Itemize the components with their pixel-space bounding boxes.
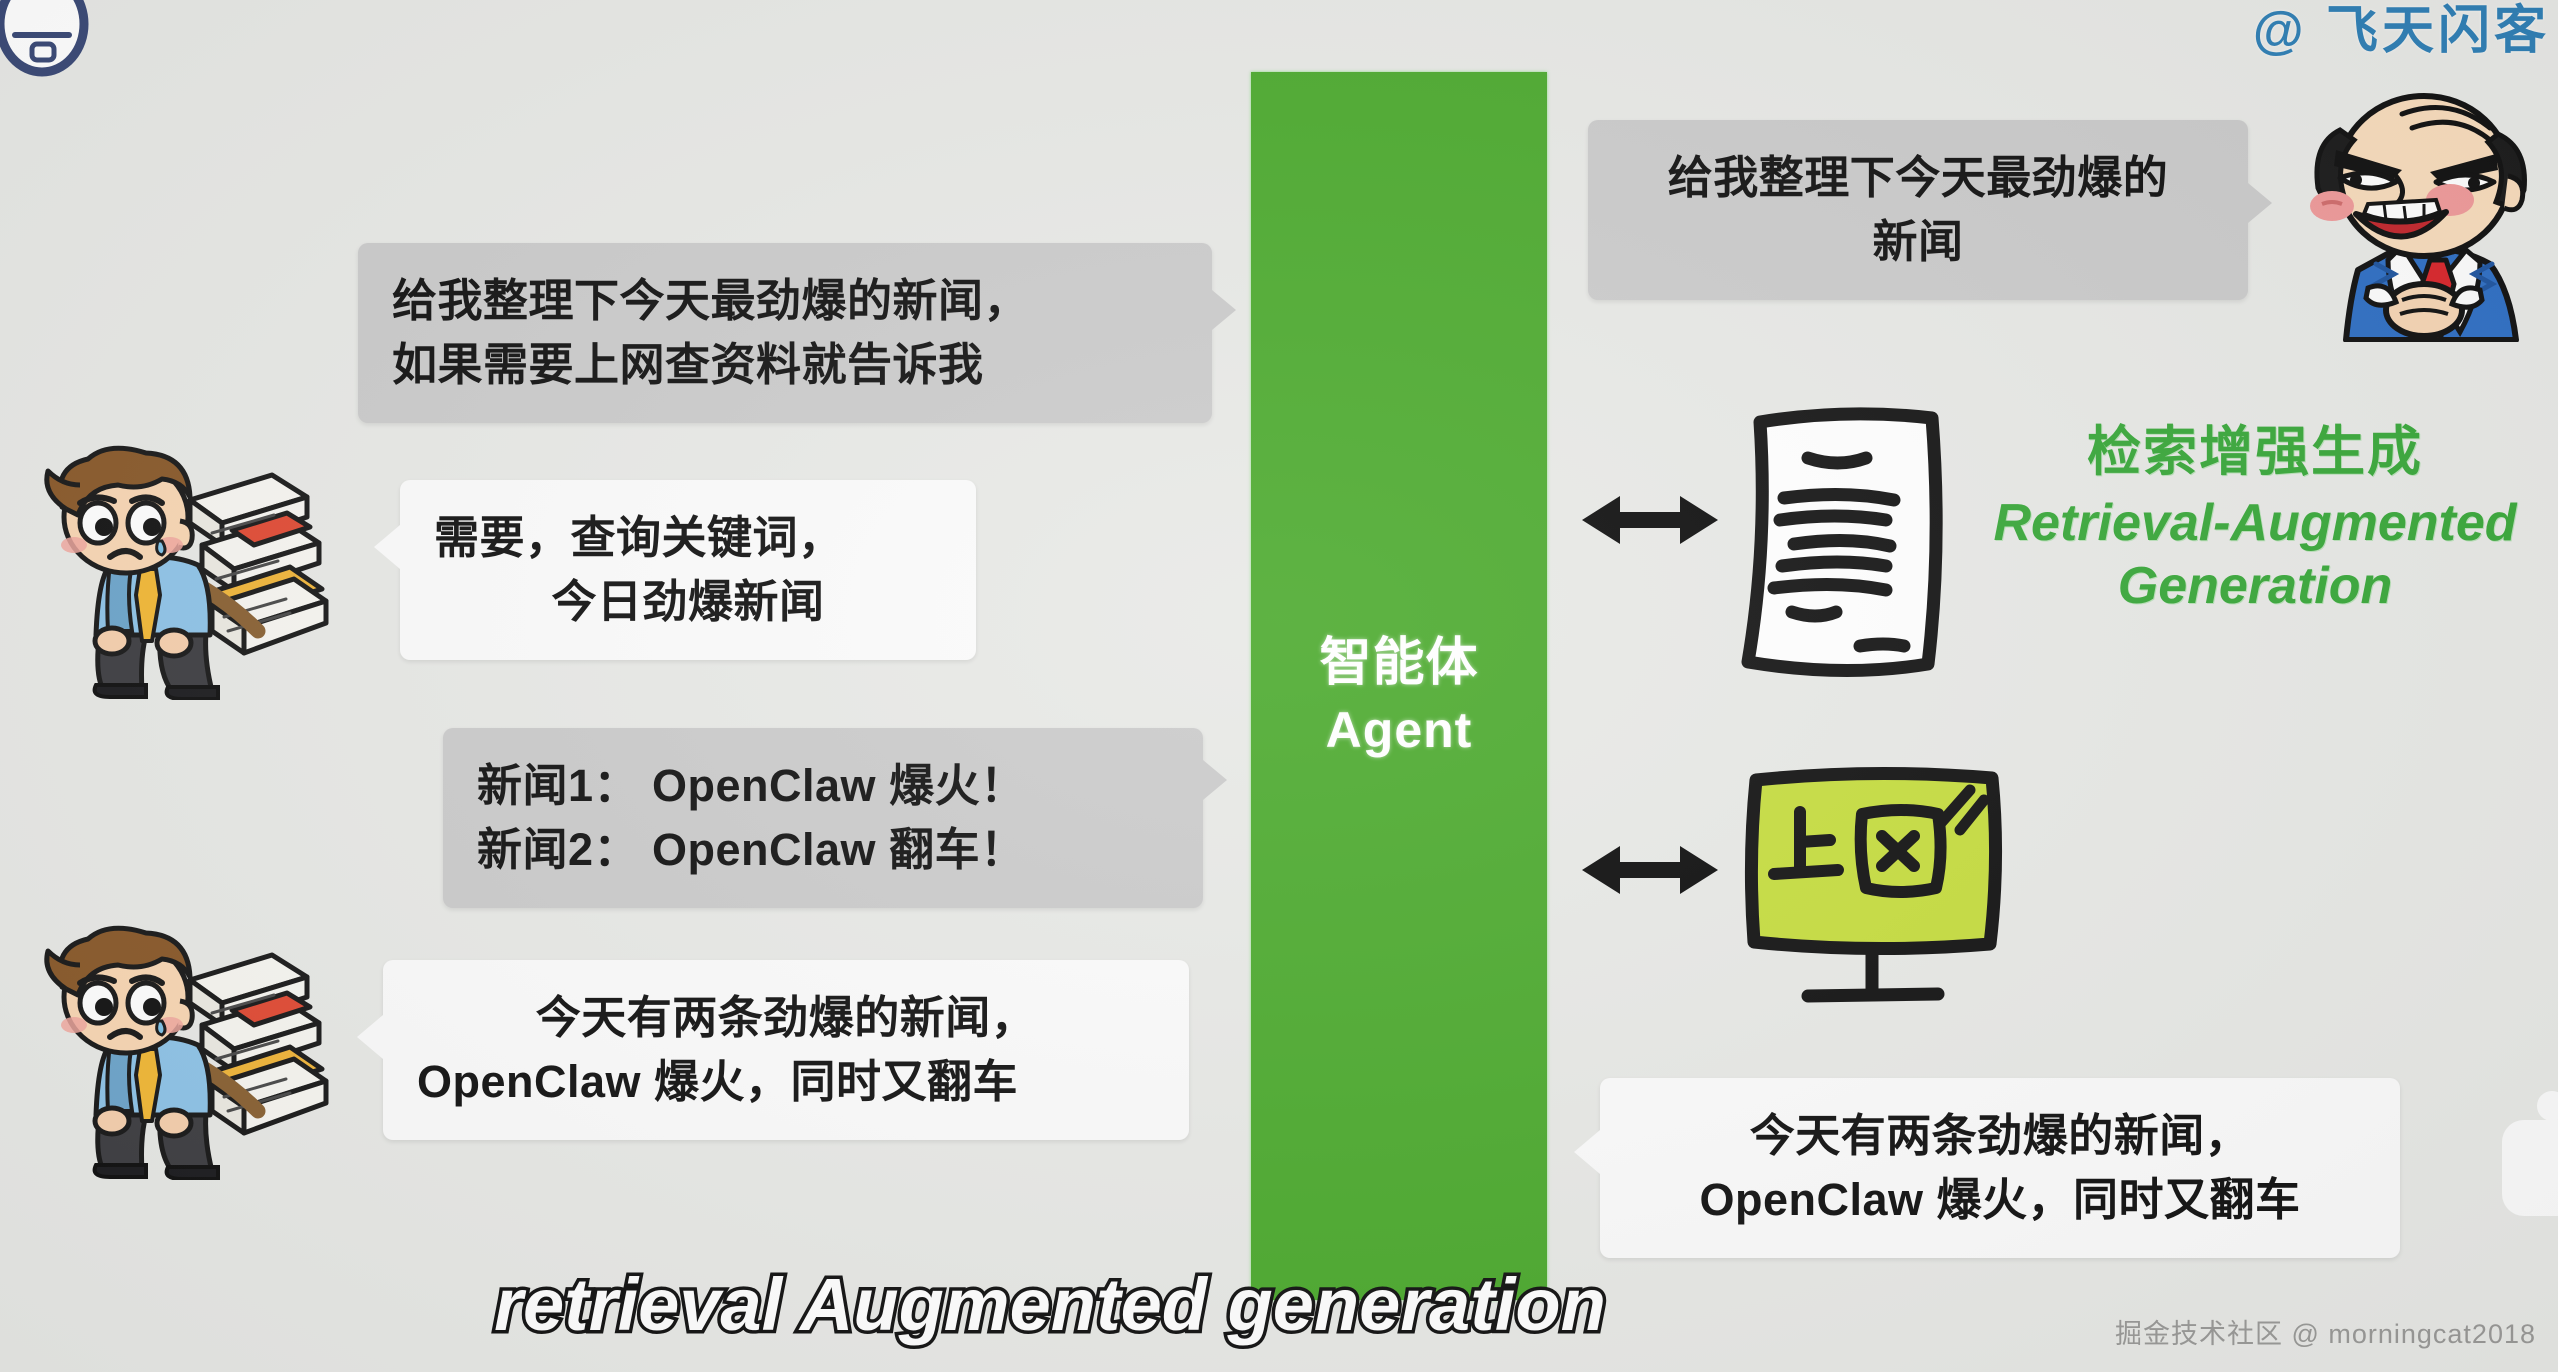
bubble-line: OpenClaw 爆火，同时又翻车: [1634, 1168, 2366, 1232]
bubble-user-supply-news: 新闻1： OpenClaw 爆火！ 新闻2： OpenClaw 翻车！: [443, 728, 1203, 908]
rag-heading: 检索增强生成 Retrieval-Augmented Generation: [1975, 420, 2535, 619]
bubble-line: 今天有两条劲爆的新闻，: [417, 986, 1155, 1050]
document-icon: [1726, 396, 1976, 691]
bubble-line: 新闻1： OpenClaw 爆火！: [477, 754, 1169, 818]
bubble-line: 今天有两条劲爆的新闻，: [1634, 1104, 2366, 1168]
agent-label-cn: 智能体: [1251, 630, 1547, 698]
bubble-line: 今日劲爆新闻: [434, 570, 942, 634]
rag-heading-en-line2: Generation: [1975, 555, 2535, 618]
bubble-tail: [374, 525, 400, 569]
agent-label-en: Agent: [1251, 698, 1547, 763]
bubble-line: 新闻2： OpenClaw 翻车！: [477, 818, 1169, 882]
rag-heading-en-line1: Retrieval-Augmented: [1975, 492, 2535, 555]
watermark-bottom-right: 掘金技术社区 @ morningcat2018: [2115, 1312, 2536, 1351]
bubble-line: 需要，查询关键词，: [434, 506, 942, 570]
bubble-agent-ask-search: 需要，查询关键词， 今日劲爆新闻: [400, 480, 976, 660]
bubble-agent-final-answer: 今天有两条劲爆的新闻， OpenClaw 爆火，同时又翻车: [383, 960, 1189, 1140]
bubble-tail: [1212, 290, 1236, 330]
bubble-line: 如果需要上网查资料就告诉我: [392, 333, 1178, 397]
double-headed-arrow-icon: [1580, 832, 1720, 913]
decorative-blob: [2490, 1086, 2558, 1221]
bubble-line: 给我整理下今天最劲爆的新闻，: [392, 269, 1178, 333]
bubble-tail: [357, 1015, 383, 1059]
app-logo-icon: [0, 0, 102, 99]
watermark-top-right: @ 飞天闪客: [2253, 0, 2550, 63]
rag-heading-cn: 检索增强生成: [1975, 420, 2535, 486]
bubble-user-request: 给我整理下今天最劲爆的新闻， 如果需要上网查资料就告诉我: [358, 243, 1212, 423]
bottom-caption: retrieval Augmented generation: [0, 1262, 2100, 1347]
double-headed-arrow-icon: [1580, 482, 1720, 563]
bubble-tail: [1574, 1130, 1600, 1174]
bubble-line: OpenClaw 爆火，同时又翻车: [417, 1050, 1155, 1114]
grinning-boss-avatar: [2284, 84, 2558, 347]
bubble-line: 给我整理下今天最劲爆的: [1622, 146, 2214, 210]
infographic-canvas: @ 飞天闪客 智能体 Agent: [0, 0, 2558, 1372]
bubble-tail: [1203, 760, 1227, 800]
bubble-line: 新闻: [1622, 210, 2214, 274]
monitor-icon: [1742, 762, 2032, 1027]
agent-label: 智能体 Agent: [1251, 630, 1547, 763]
bubble-boss-answer: 今天有两条劲爆的新闻， OpenClaw 爆火，同时又翻车: [1600, 1078, 2400, 1258]
tired-office-worker-avatar: [22, 445, 342, 705]
bubble-boss-request: 给我整理下今天最劲爆的 新闻: [1588, 120, 2248, 300]
bubble-tail: [2248, 183, 2272, 223]
tired-office-worker-avatar: [22, 925, 342, 1185]
